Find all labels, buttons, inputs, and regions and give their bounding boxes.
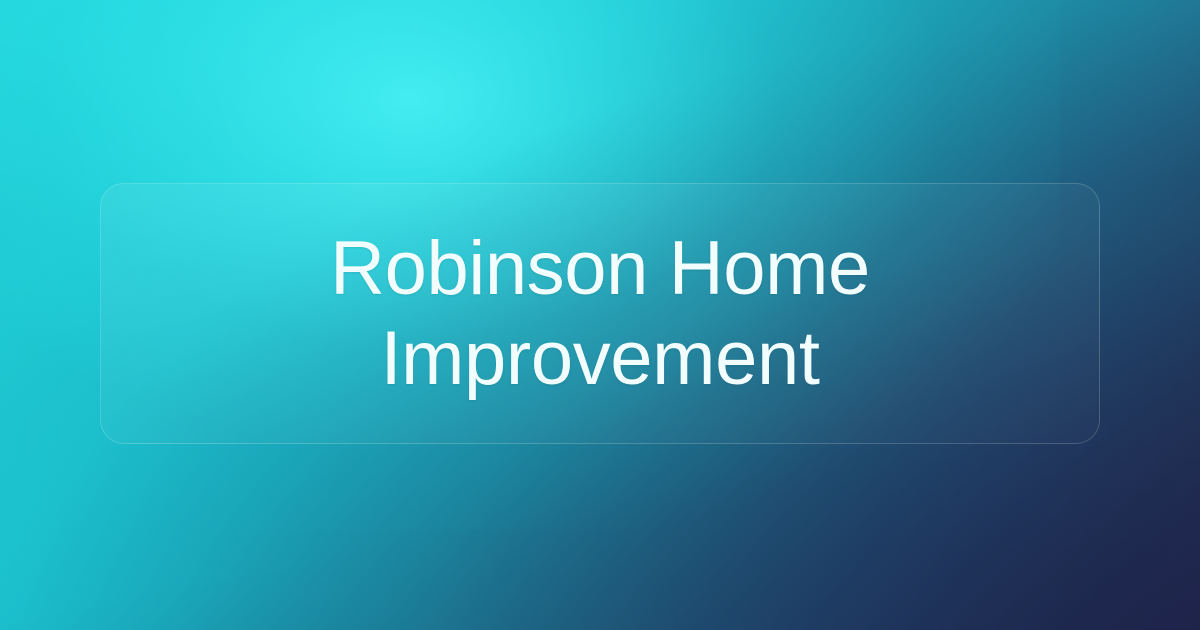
og-preview-card: Robinson Home Improvement [0,0,1200,630]
page-title: Robinson Home Improvement [141,224,1059,404]
title-panel: Robinson Home Improvement [100,183,1100,444]
